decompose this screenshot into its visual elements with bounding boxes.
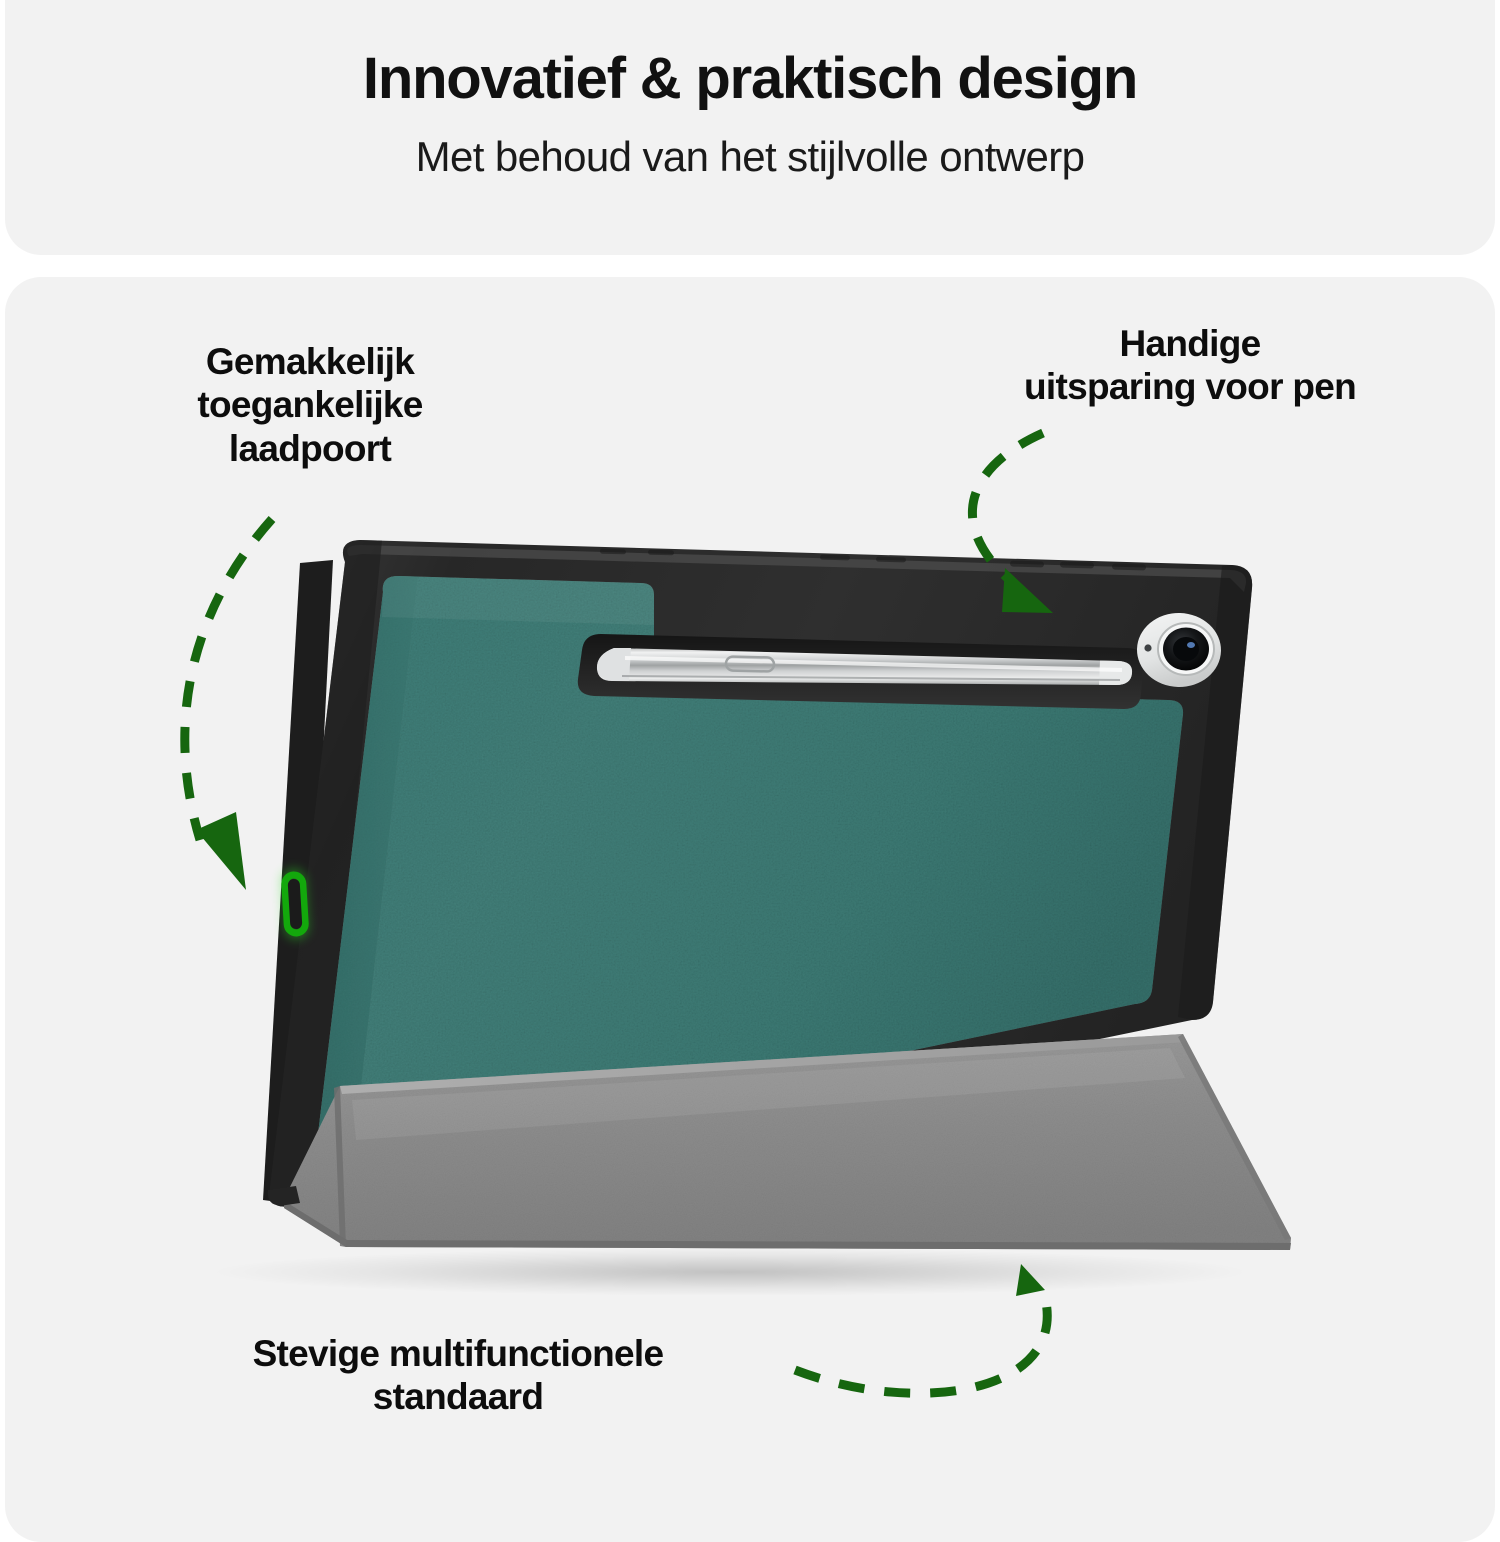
page-subtitle: Met behoud van het stijlvolle ontwerp [5,133,1495,181]
annotation-label-charging-port: Gemakkelijk toegankelijke laadpoort [110,340,510,470]
header-card [5,0,1495,255]
annotation-label-stand: Stevige multifunctionele standaard [118,1332,798,1419]
annotation-label-pen-slot: Handige uitsparing voor pen [930,322,1450,409]
infographic-stage: Innovatief & praktisch design Met behoud… [0,0,1500,1500]
page-title: Innovatief & praktisch design [5,48,1495,111]
